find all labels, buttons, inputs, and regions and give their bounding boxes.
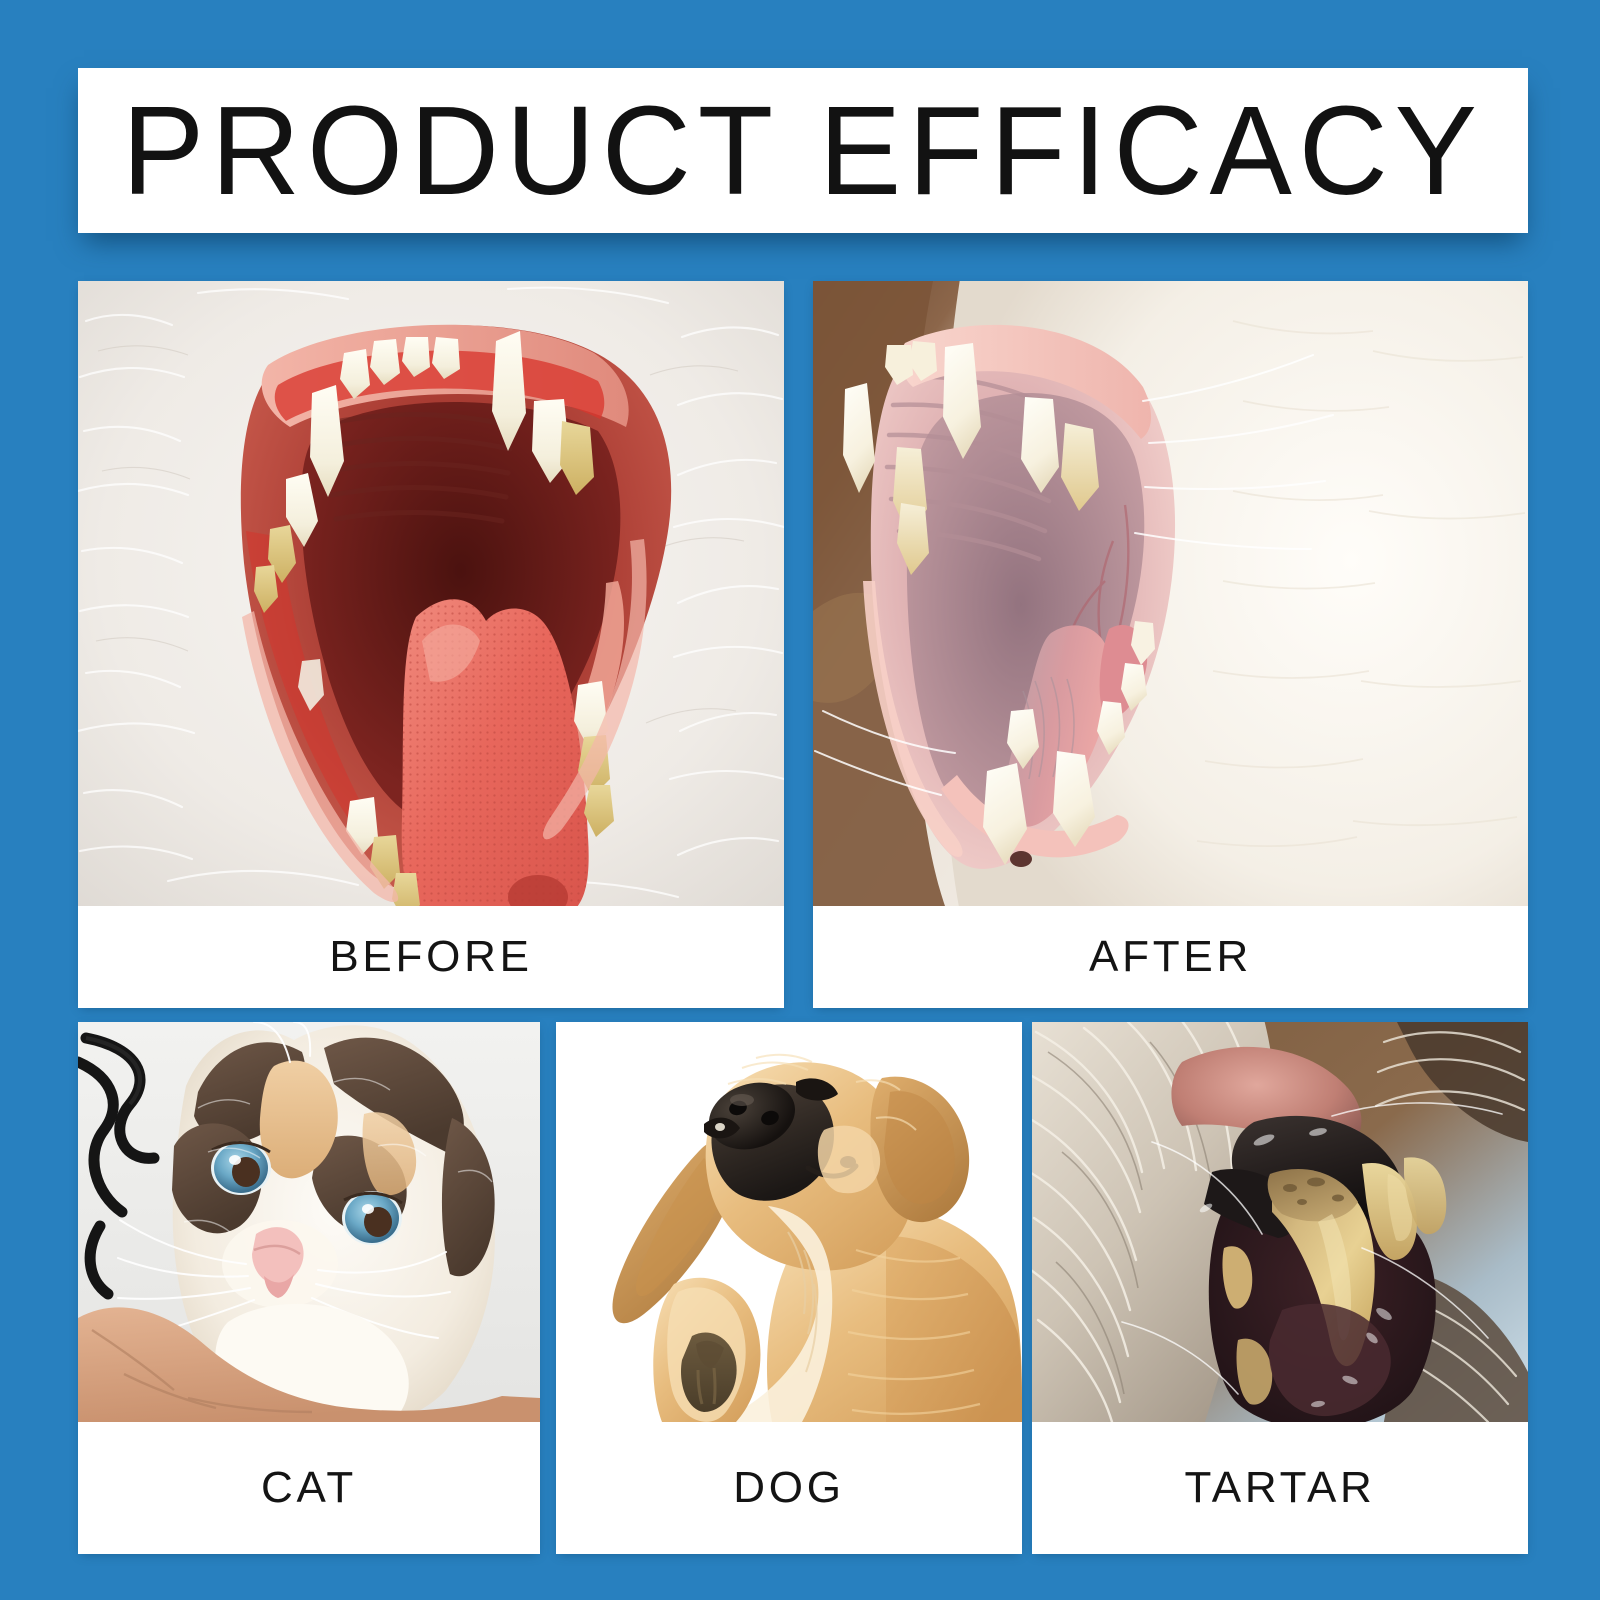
photo-tartar-closeup <box>1032 1022 1528 1422</box>
card-dog[interactable]: DOG <box>556 1022 1022 1554</box>
caption-cat: CAT <box>78 1422 540 1554</box>
caption-after: AFTER <box>813 906 1528 1008</box>
caption-tartar: TARTAR <box>1032 1422 1528 1554</box>
before-illustration <box>78 281 784 906</box>
cat-illustration <box>78 1022 540 1422</box>
dog-illustration <box>556 1022 1022 1422</box>
caption-dog: DOG <box>556 1422 1022 1554</box>
card-cat[interactable]: CAT <box>78 1022 540 1554</box>
photo-before-cat-mouth <box>78 281 784 906</box>
photo-dog-portrait <box>556 1022 1022 1422</box>
title-bar: PRODUCT EFFICACY <box>78 68 1528 233</box>
caption-before: BEFORE <box>78 906 784 1008</box>
page-title: PRODUCT EFFICACY <box>122 88 1484 214</box>
tartar-illustration <box>1032 1022 1528 1422</box>
poster-canvas: PRODUCT EFFICACY <box>0 0 1600 1600</box>
card-after[interactable]: AFTER <box>813 281 1528 1008</box>
photo-after-cat-mouth <box>813 281 1528 906</box>
card-before[interactable]: BEFORE <box>78 281 784 1008</box>
card-tartar[interactable]: TARTAR <box>1032 1022 1528 1554</box>
photo-cat-portrait <box>78 1022 540 1422</box>
after-illustration <box>813 281 1528 906</box>
